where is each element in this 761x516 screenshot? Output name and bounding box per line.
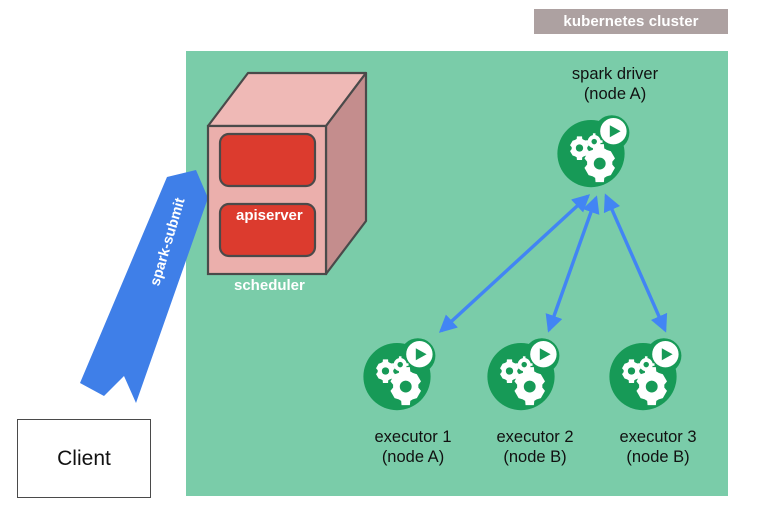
control-plane-cube-labels: apiserver scheduler [186, 55, 386, 290]
executor-3-label: executor 3 (node B) [583, 427, 733, 467]
spark-driver-name: spark driver [572, 65, 658, 83]
executor-2-name: executor 2 [496, 428, 573, 446]
client-label: Client [57, 448, 111, 469]
apiserver-label: apiserver [236, 208, 303, 223]
client-box: Client [17, 419, 151, 498]
scheduler-label: scheduler [234, 278, 305, 293]
executor-3-node: (node B) [583, 447, 733, 467]
executor-3-name: executor 3 [619, 428, 696, 446]
executor-1-name: executor 1 [374, 428, 451, 446]
spark-driver-label: spark driver (node A) [520, 64, 710, 104]
spark-driver-node: (node A) [520, 84, 710, 104]
kubernetes-cluster-badge-label: kubernetes cluster [563, 14, 698, 29]
kubernetes-cluster-badge: kubernetes cluster [534, 9, 728, 34]
